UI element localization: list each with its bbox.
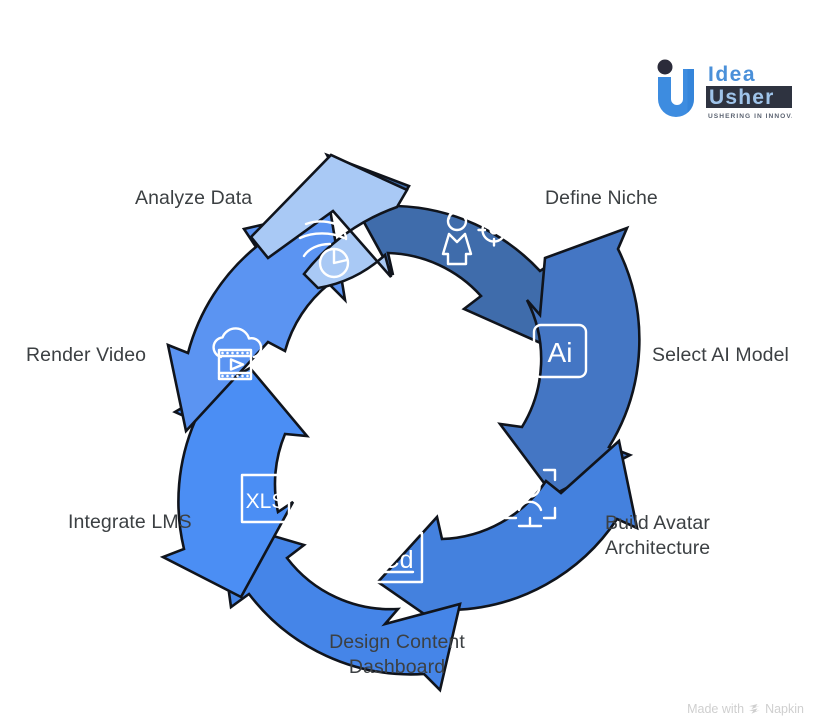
made-with-text: Made with xyxy=(687,702,744,716)
cycle-diagram: Ai Cd XLS xyxy=(0,0,818,726)
label-select-ai-model: Select AI Model xyxy=(652,343,789,368)
label-render-video: Render Video xyxy=(26,343,146,368)
label-design-content-dashboard: Design Content Dashboard xyxy=(326,630,468,680)
label-analyze-data: Analyze Data xyxy=(135,186,252,211)
napkin-brand-text: Napkin xyxy=(765,702,804,716)
svg-text:XLS: XLS xyxy=(246,490,286,513)
svg-text:Ai: Ai xyxy=(548,337,573,368)
label-build-avatar-architecture: Build Avatar Architecture xyxy=(605,511,710,561)
label-integrate-lms: Integrate LMS xyxy=(68,510,192,535)
label-define-niche: Define Niche xyxy=(545,186,658,211)
made-with-napkin-footer[interactable]: Made with Napkin xyxy=(687,702,804,716)
svg-text:Cd: Cd xyxy=(382,546,414,574)
napkin-logo-icon xyxy=(748,703,761,716)
